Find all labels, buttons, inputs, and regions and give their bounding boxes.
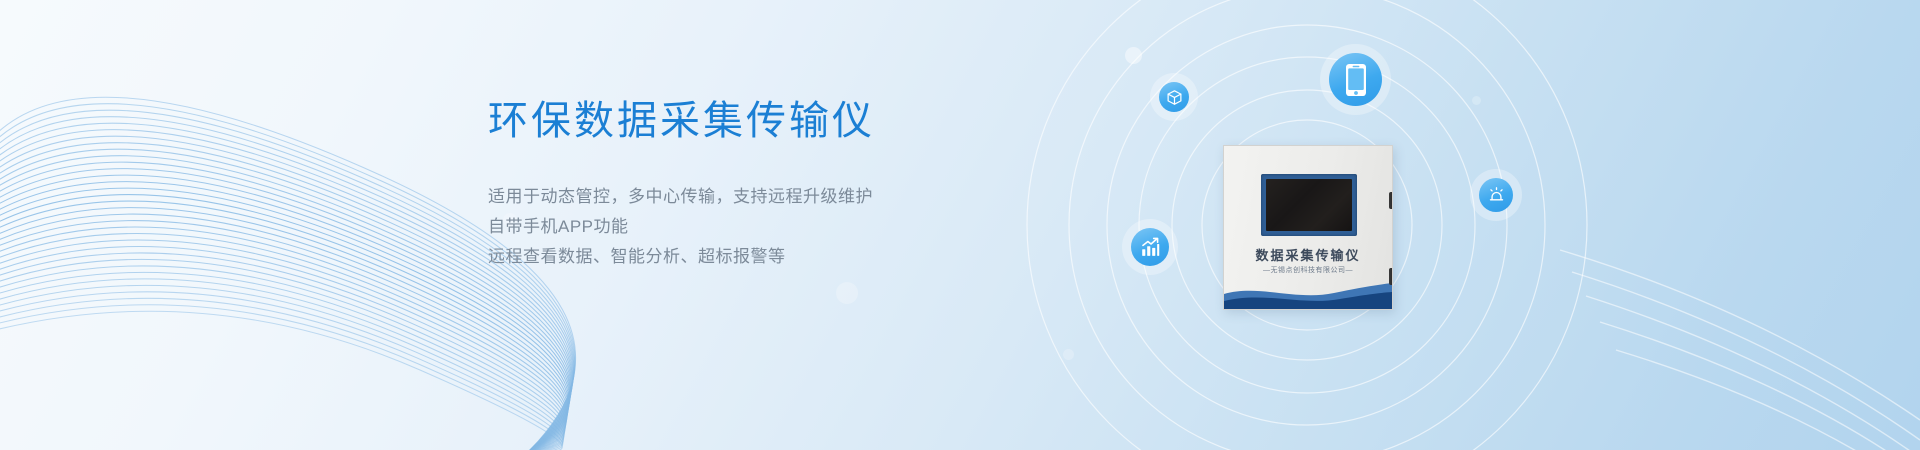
- bubble-1: [1125, 47, 1142, 64]
- smartphone-icon[interactable]: [1329, 53, 1382, 106]
- bar-chart-icon-glyph: [1140, 237, 1161, 258]
- product-hero-banner: 环保数据采集传输仪 适用于动态管控，多中心传输，支持远程升级维护 自带手机APP…: [0, 0, 1920, 450]
- bubble-4: [1063, 349, 1074, 360]
- subtitle-line-2: 自带手机APP功能: [488, 212, 1048, 242]
- device-company-label: —无锡点创科技有限公司—: [1224, 265, 1392, 275]
- subtitle-list: 适用于动态管控，多中心传输，支持远程升级维护 自带手机APP功能 远程查看数据、…: [488, 182, 1048, 272]
- device-screen: [1266, 179, 1352, 231]
- bubble-2: [836, 282, 858, 304]
- cube-icon-glyph: [1166, 89, 1183, 106]
- device-latch-bottom: [1389, 268, 1393, 285]
- device-screen-frame: [1261, 174, 1357, 236]
- device-latch-top: [1389, 192, 1393, 209]
- device-image: 数据采集传输仪 —无锡点创科技有限公司—: [1223, 145, 1393, 310]
- cube-icon[interactable]: [1159, 82, 1189, 112]
- device-brand-label: 数据采集传输仪: [1224, 245, 1392, 264]
- alarm-light-icon-glyph: [1487, 186, 1506, 205]
- subtitle-line-3: 远程查看数据、智能分析、超标报警等: [488, 242, 1048, 272]
- page-title: 环保数据采集传输仪: [488, 96, 1048, 146]
- hero-text-block: 环保数据采集传输仪 适用于动态管控，多中心传输，支持远程升级维护 自带手机APP…: [488, 96, 1048, 272]
- smartphone-icon-glyph: [1344, 63, 1368, 97]
- alarm-light-icon[interactable]: [1479, 178, 1513, 212]
- bar-chart-icon[interactable]: [1131, 228, 1169, 266]
- device-bottom-wave: [1224, 275, 1392, 309]
- subtitle-line-1: 适用于动态管控，多中心传输，支持远程升级维护: [488, 182, 1048, 212]
- bubble-5: [1472, 96, 1481, 105]
